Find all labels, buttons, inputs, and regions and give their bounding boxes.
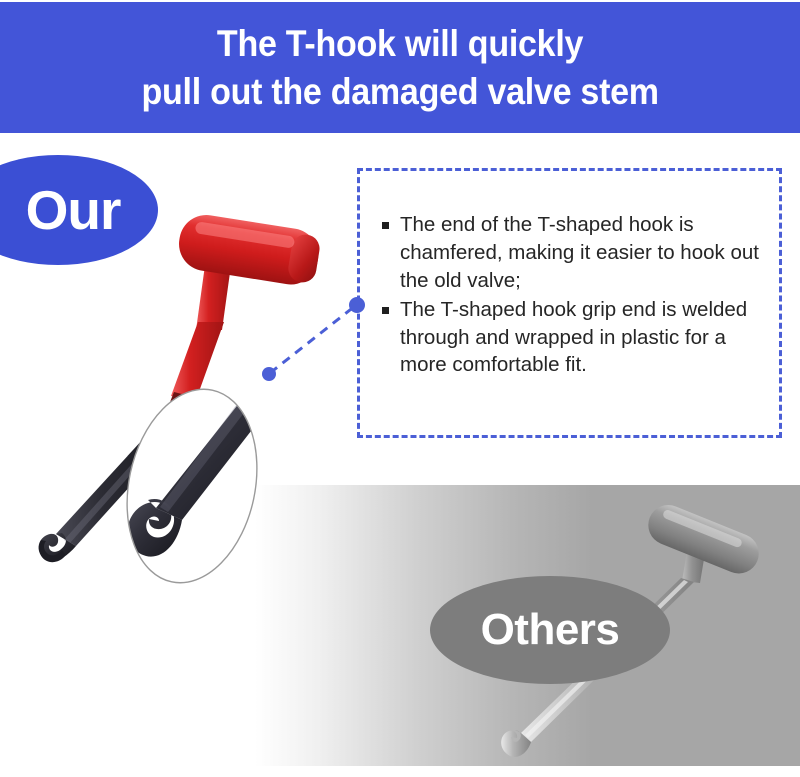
feature-bullet-item: The end of the T-shaped hook is chamfere… (382, 211, 774, 295)
banner-headline-line-1: The T-hook will quickly (217, 20, 583, 67)
banner-headline-line-2: pull out the damaged valve stem (141, 68, 658, 115)
header-banner: The T-hook will quickly pull out the dam… (0, 2, 800, 133)
feature-bullet-item: The T-shaped hook grip end is welded thr… (382, 296, 774, 380)
feature-callout-box: The end of the T-shaped hook is chamfere… (357, 168, 782, 438)
others-badge-label: Others (481, 608, 620, 652)
feature-bullet-list: The end of the T-shaped hook is chamfere… (382, 211, 774, 380)
our-badge-label: Our (0, 183, 120, 238)
others-badge: Others (430, 576, 670, 684)
infographic-canvas: Our Others The T-hook will quickly pull … (0, 0, 800, 777)
